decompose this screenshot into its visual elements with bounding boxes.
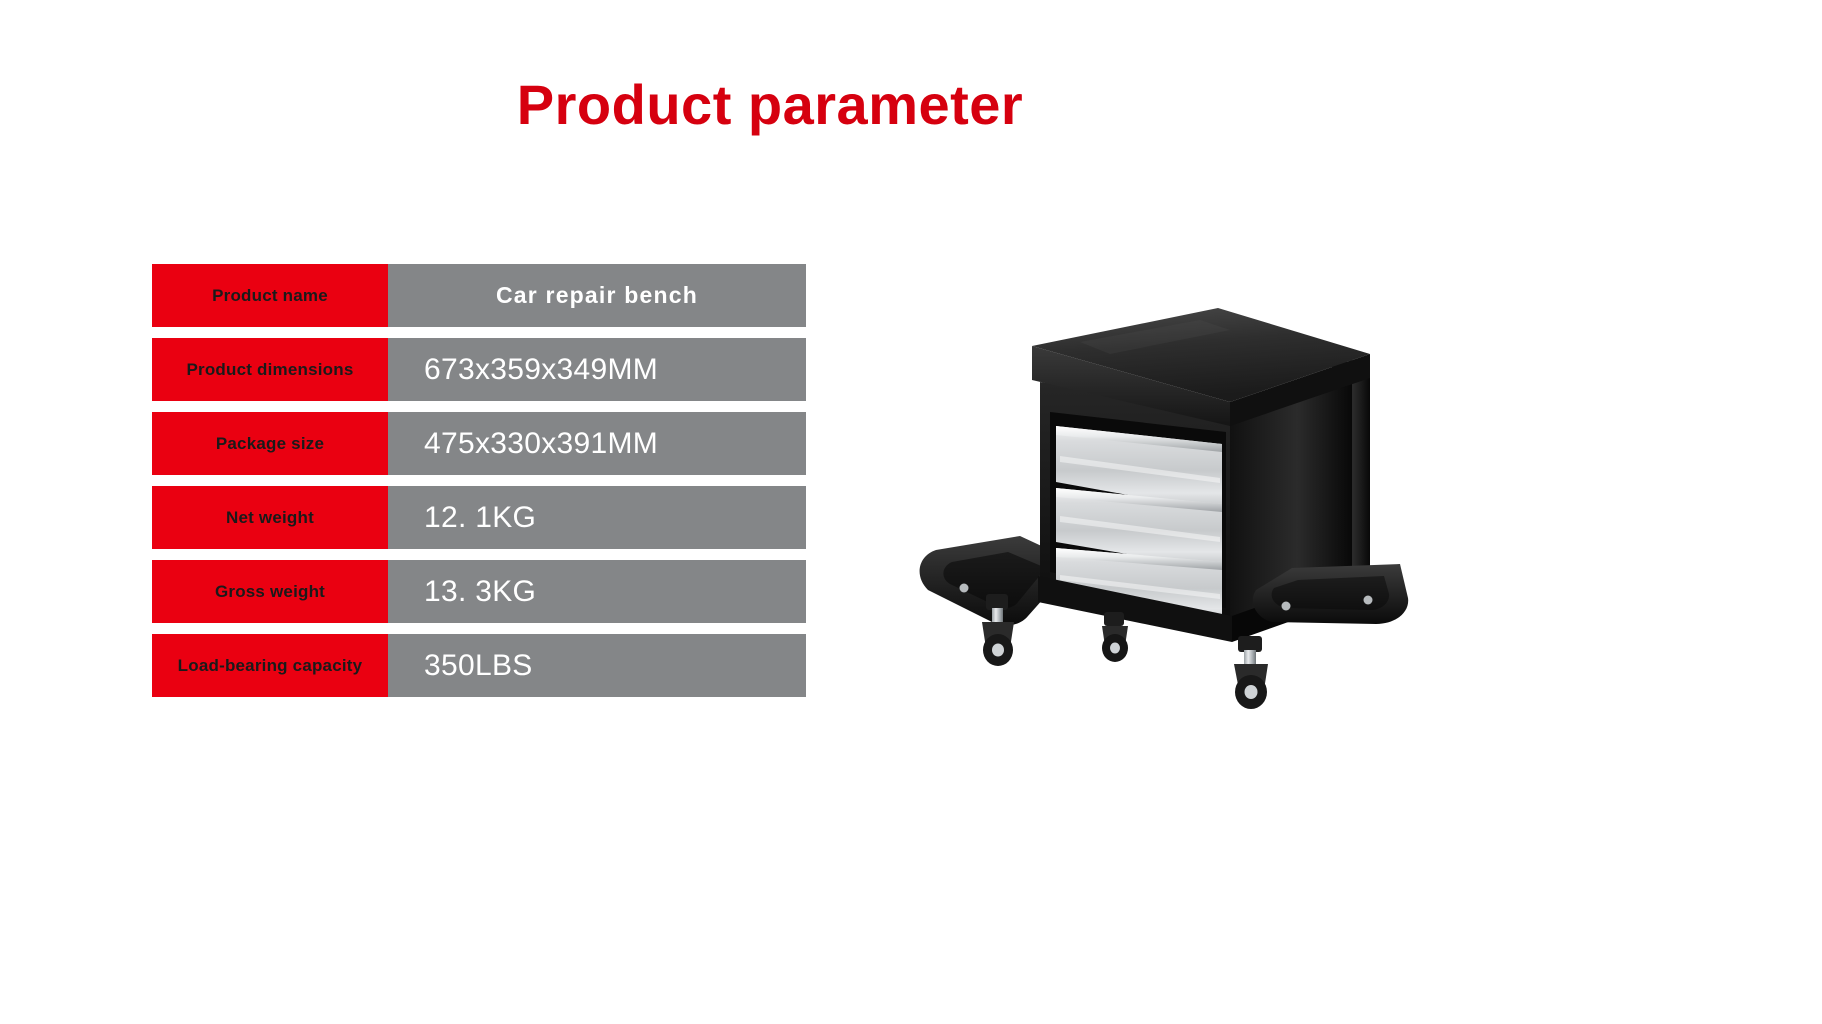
spec-label-load-bearing-capacity: Load-bearing capacity — [152, 634, 388, 697]
product-parameter-page: Product parameter Product name Car repai… — [0, 0, 1822, 1024]
spec-label-net-weight: Net weight — [152, 486, 388, 549]
spec-table: Product name Car repair bench Product di… — [152, 264, 806, 697]
spec-value-product-dimensions: 673x359x349MM — [388, 338, 806, 401]
table-row: Product dimensions 673x359x349MM — [152, 338, 806, 401]
spec-value-load-bearing-capacity: 350LBS — [388, 634, 806, 697]
car-repair-bench-illustration — [900, 250, 1460, 720]
spec-value-product-name: Car repair bench — [388, 264, 806, 327]
spec-value-package-size: 475x330x391MM — [388, 412, 806, 475]
spec-label-gross-weight: Gross weight — [152, 560, 388, 623]
page-title: Product parameter — [0, 74, 1540, 136]
product-photo — [900, 250, 1460, 720]
spec-label-package-size: Package size — [152, 412, 388, 475]
table-row: Net weight 12. 1KG — [152, 486, 806, 549]
spec-value-net-weight: 12. 1KG — [388, 486, 806, 549]
table-row: Gross weight 13. 3KG — [152, 560, 806, 623]
table-row: Package size 475x330x391MM — [152, 412, 806, 475]
table-row: Product name Car repair bench — [152, 264, 806, 327]
spec-label-product-dimensions: Product dimensions — [152, 338, 388, 401]
spec-label-product-name: Product name — [152, 264, 388, 327]
table-row: Load-bearing capacity 350LBS — [152, 634, 806, 697]
caster-front-right — [1234, 636, 1268, 709]
spec-value-gross-weight: 13. 3KG — [388, 560, 806, 623]
